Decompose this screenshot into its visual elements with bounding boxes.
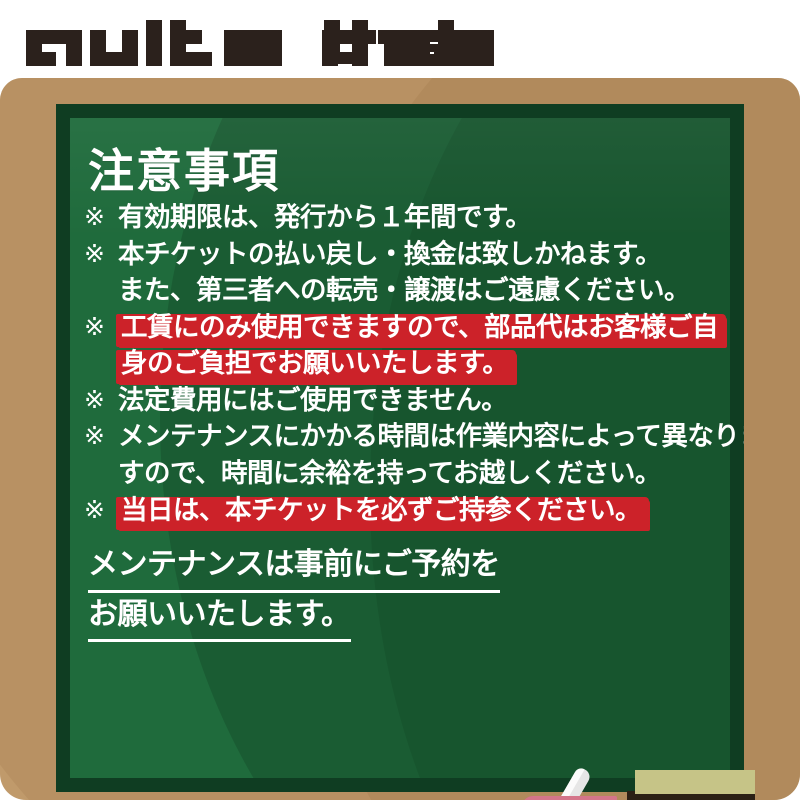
pink-chalk-highlight [522, 796, 617, 800]
reservation-line: メンテナンスは事前にご予約を [88, 543, 722, 593]
chalk-tray-illustration [525, 778, 755, 800]
notice-text-segment: 本チケットの払い戻し・換金は致しかねます。 [118, 239, 661, 270]
notice-item: ※また、第三者への転売・譲渡はご遠慮ください。 [84, 273, 722, 310]
notice-text: 有効期限は、発行から１年間です。 [118, 200, 531, 237]
notice-text-highlighted: 工賃にのみ使用できますので、部品代はお客様ご自 [118, 310, 721, 347]
page-title: 注意事項 [88, 148, 722, 194]
notice-text: また、第三者への転売・譲渡はご遠慮ください。 [118, 273, 690, 310]
notice-item: ※メンテナンスにかかる時間は作業内容によって異なりま [84, 419, 722, 456]
notice-text-segment: 法定費用にはご使用できません。 [118, 385, 507, 416]
notice-text: 法定費用にはご使用できません。 [118, 383, 507, 420]
notice-bullet-icon: ※ [84, 310, 118, 345]
reservation-message: メンテナンスは事前にご予約をお願いいたします。 [88, 543, 722, 642]
blackboard-frame: 注意事項 ※有効期限は、発行から１年間です。※本チケットの払い戻し・換金は致しか… [0, 78, 800, 800]
notice-bullet-icon: ※ [84, 419, 118, 454]
notice-text: 本チケットの払い戻し・換金は致しかねます。 [118, 237, 661, 274]
notice-text: 身のご負担でお願いいたします。 [118, 346, 511, 383]
notice-text: 工賃にのみ使用できますので、部品代はお客様ご自 [118, 310, 721, 347]
notice-content: 注意事項 ※有効期限は、発行から１年間です。※本チケットの払い戻し・換金は致しか… [70, 118, 730, 778]
auto-rubys-logotype-tail [324, 20, 484, 66]
notice-text: メンテナンスにかかる時間は作業内容によって異なりま [118, 419, 744, 456]
brand-logo: auto ruby's [0, 0, 800, 80]
notice-text: すので、時間に余裕を持ってお越しください。 [118, 456, 661, 493]
notice-text-segment: 有効期限は、発行から１年間です。 [118, 202, 531, 233]
blackboard-eraser-icon [635, 770, 755, 794]
notice-bullet-icon: ※ [84, 237, 118, 272]
notice-text-segment: すので、時間に余裕を持ってお越しください。 [118, 458, 661, 489]
ticket-notice-page: auto ruby's [0, 0, 800, 800]
notice-text-segment: また、第三者への転売・譲渡はご遠慮ください。 [118, 275, 690, 306]
notice-list: ※有効期限は、発行から１年間です。※本チケットの払い戻し・換金は致しかねます。※… [80, 200, 722, 529]
notice-bullet-icon: ※ [84, 200, 118, 235]
reservation-line-text: お願いいたします。 [88, 593, 351, 643]
notice-text-highlighted: 当日は、本チケットを必ずご持参ください。 [118, 493, 644, 530]
notice-item: ※当日は、本チケットを必ずご持参ください。 [84, 493, 722, 530]
notice-item: ※工賃にのみ使用できますので、部品代はお客様ご自 [84, 310, 722, 347]
notice-bullet-icon: ※ [84, 493, 118, 528]
notice-item: ※本チケットの払い戻し・換金は致しかねます。 [84, 237, 722, 274]
notice-text: 当日は、本チケットを必ずご持参ください。 [118, 493, 644, 530]
notice-text-highlighted: 身のご負担でお願いいたします。 [118, 346, 511, 383]
blackboard: 注意事項 ※有効期限は、発行から１年間です。※本チケットの払い戻し・換金は致しか… [56, 104, 744, 792]
notice-item: ※身のご負担でお願いいたします。 [84, 346, 722, 383]
notice-item: ※すので、時間に余裕を持ってお越しください。 [84, 456, 722, 493]
notice-item: ※法定費用にはご使用できません。 [84, 383, 722, 420]
notice-item: ※有効期限は、発行から１年間です。 [84, 200, 722, 237]
reservation-line: お願いいたします。 [88, 593, 722, 643]
notice-text-segment: メンテナンスにかかる時間は作業内容によって異なりま [118, 421, 744, 452]
reservation-line-text: メンテナンスは事前にご予約を [88, 543, 500, 593]
notice-bullet-icon: ※ [84, 383, 118, 418]
